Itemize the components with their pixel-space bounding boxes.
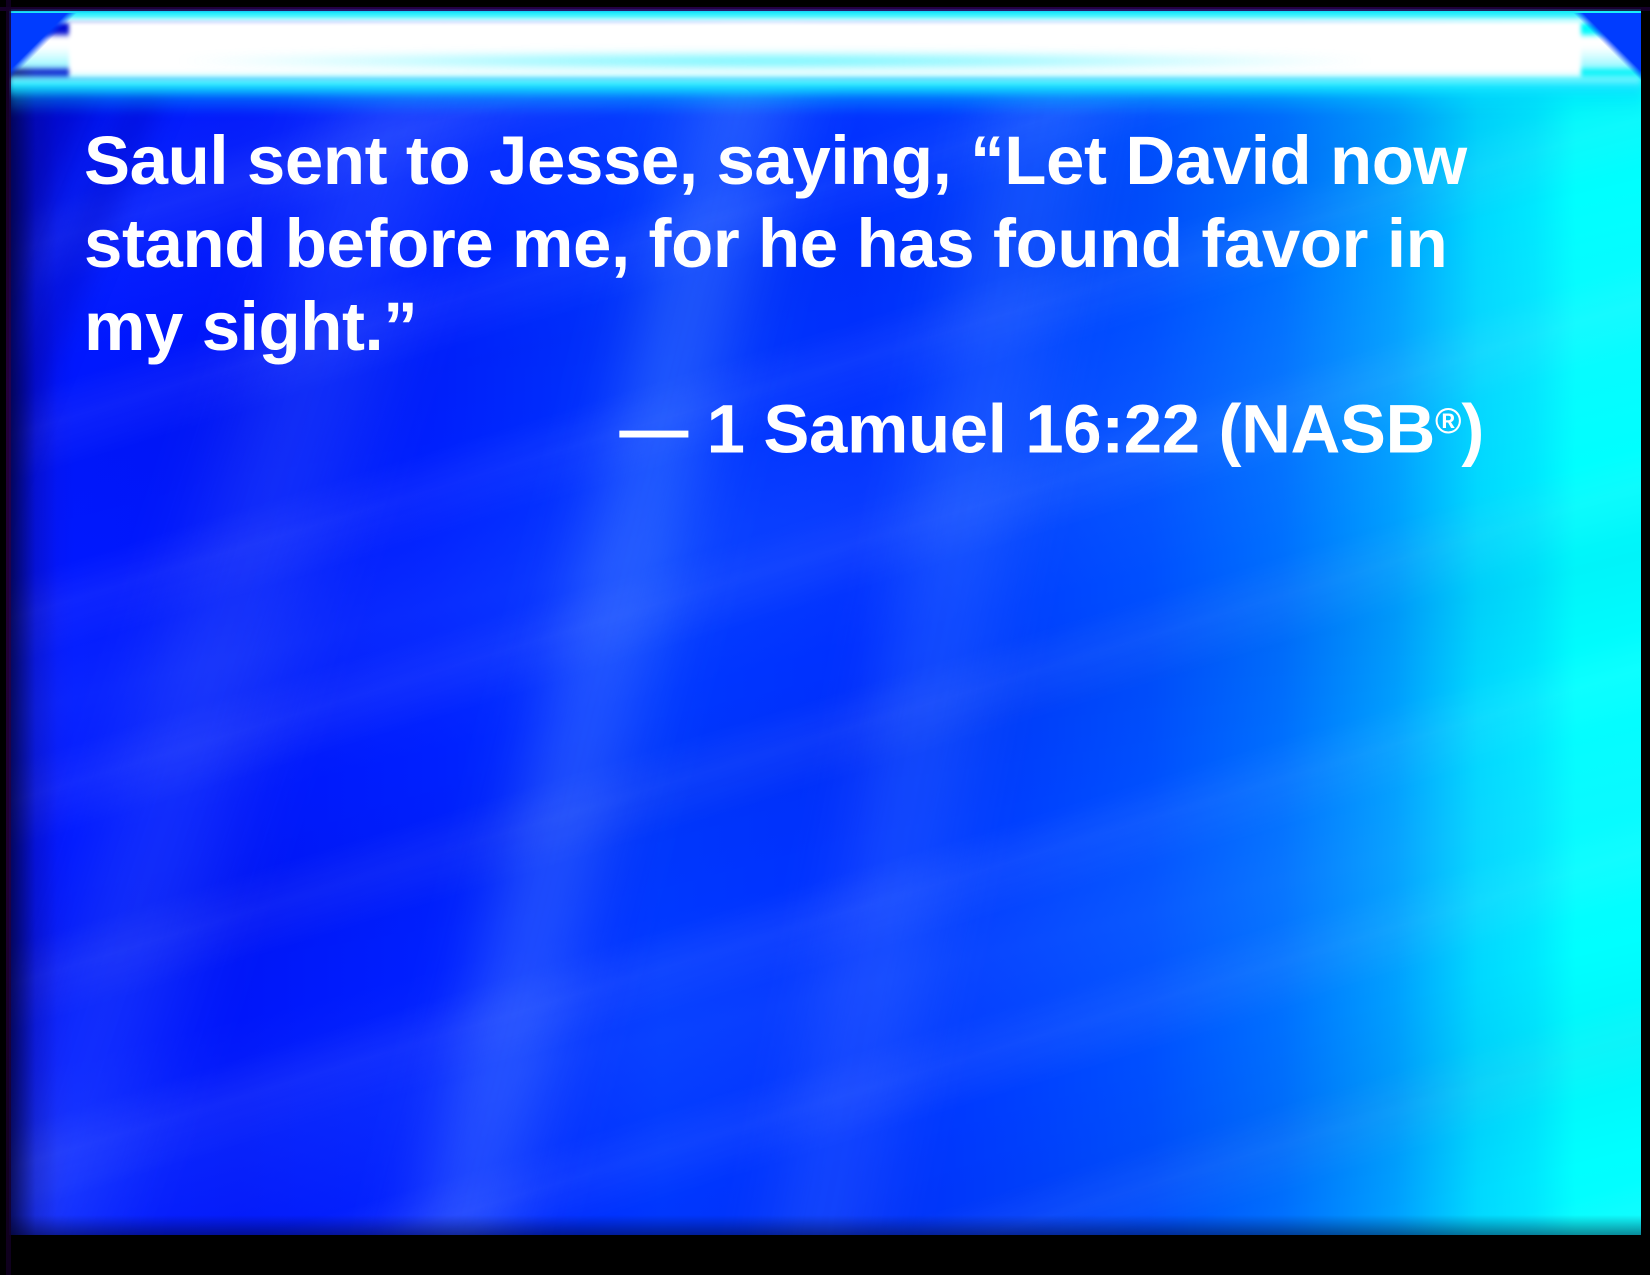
verse-text: Saul sent to Jesse, saying, “Let David n…: [84, 119, 1484, 368]
frame-left-tint: [6, 0, 11, 1275]
registered-trademark-icon: ®: [1435, 401, 1461, 441]
verse-reference-suffix: ): [1461, 391, 1484, 468]
text-layer: Saul sent to Jesse, saying, “Let David n…: [0, 0, 1650, 1275]
verse-reference-prefix: — 1 Samuel 16:22 (NASB: [619, 391, 1435, 468]
frame-border-bottom: [0, 1235, 1650, 1275]
verse-reference: — 1 Samuel 16:22 (NASB®): [84, 380, 1498, 471]
frame-border-right: [1641, 0, 1650, 1275]
verse-slide: Saul sent to Jesse, saying, “Let David n…: [0, 0, 1650, 1275]
frame-top-tint: [0, 7, 1650, 11]
